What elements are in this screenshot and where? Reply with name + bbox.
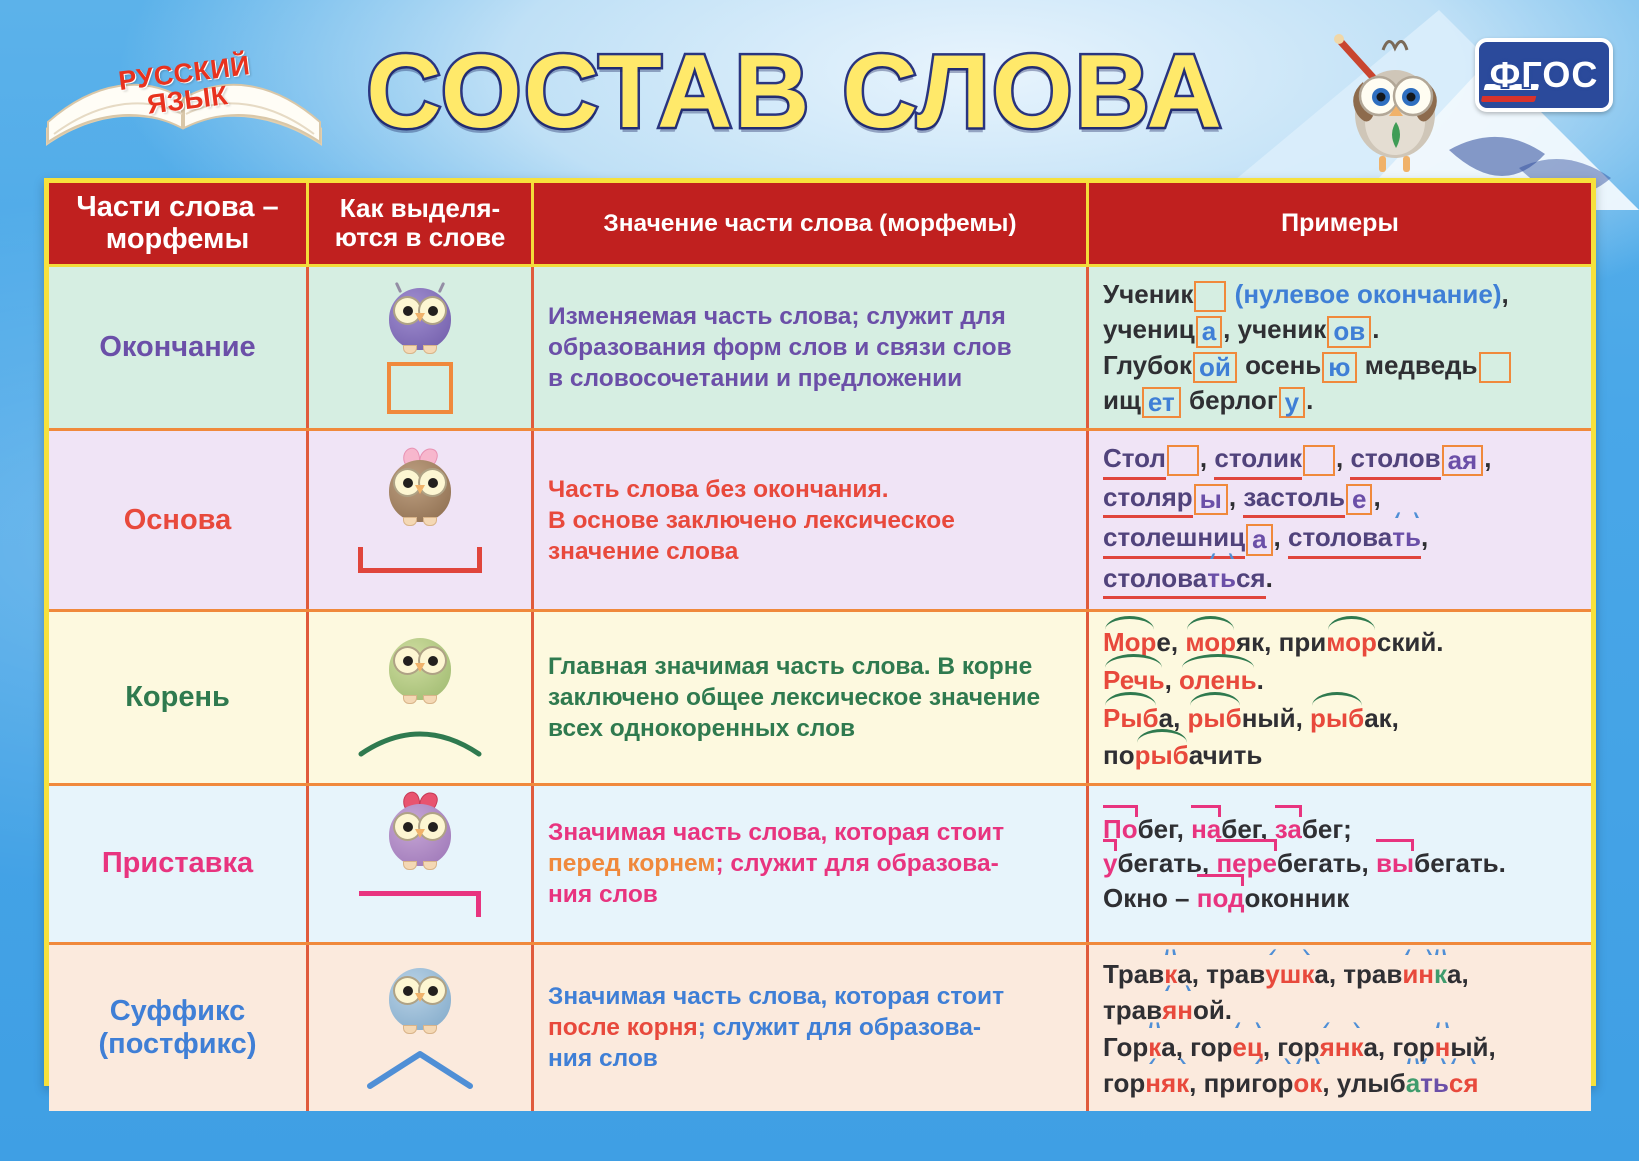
brown-owl-with-pink-bow-icon [381,452,459,526]
fgos-logo: ФГОС [1475,38,1613,112]
row-examples-ending: Ученик (нулевое окончание), ученица, уче… [1088,265,1592,429]
column-header-part-line1: Части слова – [76,191,278,223]
column-header-part-line2: морфемы [106,223,249,255]
row-name-suffix-line2: (постфикс) [63,1028,292,1061]
fgos-label: ФГОС [1475,38,1613,112]
row-description-suffix: Значимая часть слова, которая стоит посл… [533,943,1088,1111]
ending-symbol [387,362,453,414]
table-row: Корень [49,611,1591,784]
row-symbol-suffix [308,943,533,1111]
row-name-root: Корень [49,611,308,784]
row-symbol-stem [308,430,533,611]
column-header-part: Части слова – морфемы [49,183,308,265]
table-row: Суффикс (постфикс) [49,943,1591,1111]
purple-owl-icon [381,280,459,354]
row-name-suffix-line1: Суффикс [63,995,292,1028]
green-owl-icon [381,630,459,704]
page-title: СОСТАВ СЛОВА [255,34,1335,154]
row-name-stem: Основа [49,430,308,611]
row-description-stem: Часть слова без окончания. В основе закл… [533,430,1088,611]
row-symbol-root [308,611,533,784]
prefix-highlight: перед корнем [548,850,715,877]
owl-with-pointer-icon [1323,26,1463,178]
row-description-root: Главная значимая часть слова. В корне за… [533,611,1088,784]
stem-symbol [358,547,482,573]
table-row: Основа [49,430,1591,611]
column-header-mark-line1: Как выделя- [340,193,500,223]
row-examples-suffix: Травка, травушка, травинка, травяной. Го… [1088,943,1592,1111]
violet-owl-with-red-bow-icon [381,796,459,870]
table-row: Приставка [49,784,1591,943]
row-symbol-ending [308,265,533,429]
root-symbol [355,718,485,758]
poster-header: РУССКИЙ ЯЗЫК СОСТАВ СЛОВА ФГОС [0,0,1639,176]
table-row: Окончание Изменяемая часть слова; служит… [49,265,1591,429]
row-name-ending: Окончание [49,265,308,429]
column-header-meaning: Значение части слова (морфемы) [533,183,1088,265]
column-header-examples: Примеры [1088,183,1592,265]
zero-ending-box [1194,281,1226,312]
row-description-ending: Изменяемая часть слова; служит для образ… [533,265,1088,429]
row-examples-root: Море, моряк, приморский. Речь, олень. Ры… [1088,611,1592,784]
row-name-suffix: Суффикс (постфикс) [49,943,308,1111]
morphemes-table-container: Части слова – морфемы Как выделя- ются в… [44,178,1596,1086]
row-symbol-prefix [308,784,533,943]
row-examples-prefix: Побег, набег, забег; убегать, перебегать… [1088,784,1592,943]
morphemes-table: Части слова – морфемы Как выделя- ются в… [49,183,1591,1111]
row-description-prefix: Значимая часть слова, которая стоит пере… [533,784,1088,943]
table-header-row: Части слова – морфемы Как выделя- ются в… [49,183,1591,265]
column-header-mark: Как выделя- ются в слове [308,183,533,265]
row-examples-stem: Стол , столик , столовая, столяры, засто… [1088,430,1592,611]
column-header-mark-line2: ются в слове [335,222,506,252]
blue-owl-icon [381,960,459,1034]
suffix-highlight: после корня [548,1014,698,1041]
prefix-symbol [359,891,481,917]
suffix-symbol [362,1046,478,1090]
zero-ending-note: (нулевое окончание) [1235,279,1502,309]
row-name-prefix: Приставка [49,784,308,943]
